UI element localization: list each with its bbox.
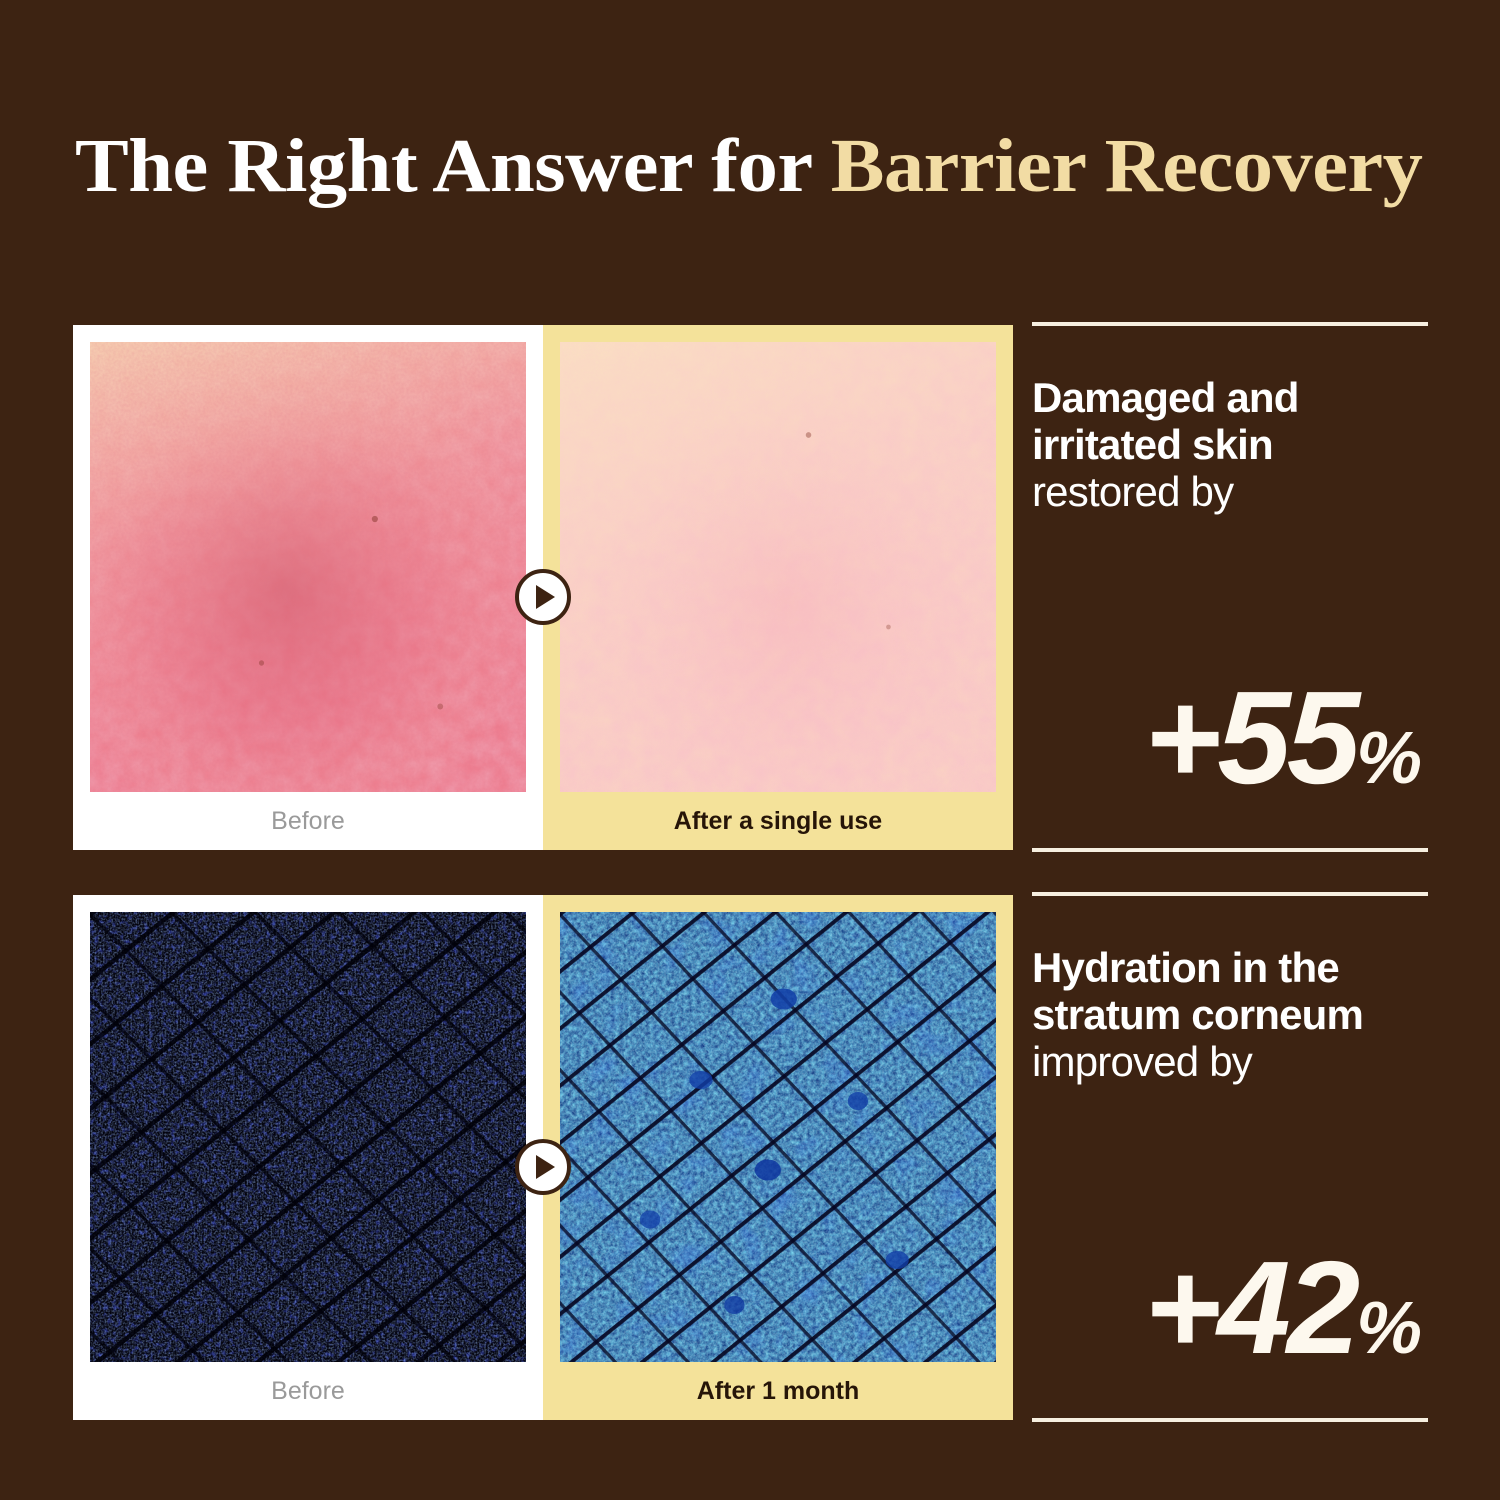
play-triangle-icon [536,585,555,609]
stat-divider-top [1032,892,1428,896]
stat-headline-hydration: Hydration in the stratum corneum improve… [1032,944,1428,1085]
stat-value-number: +42 [1144,1234,1356,1381]
after-pane-redness: After a single use [543,325,1013,850]
play-icon-hydration[interactable] [515,1139,571,1195]
before-pane-redness: Before [73,325,543,850]
stat-headline-bold: Damaged and irritated skin [1032,374,1428,468]
stat-panel-redness: Damaged and irritated skin restored by +… [1032,322,1428,852]
skin-redness-before-image [90,342,526,792]
page-title-gold: Barrier Recovery [831,124,1423,208]
caption-before-redness: Before [90,792,526,850]
stat-panel-hydration: Hydration in the stratum corneum improve… [1032,892,1428,1422]
stat-divider-bottom [1032,1418,1428,1422]
stat-headline-bold: Hydration in the stratum corneum [1032,944,1428,1038]
stat-value-hydration: +42% [1144,1242,1420,1374]
before-pane-hydration: Before [73,895,543,1420]
play-triangle-icon [536,1155,555,1179]
page-title-white: The Right Answer for [75,124,831,208]
after-pane-hydration: After 1 month [543,895,1013,1420]
stat-divider-bottom [1032,848,1428,852]
caption-after-hydration: After 1 month [560,1362,996,1420]
corneometry-after-image [560,912,996,1362]
page-title: The Right Answer for Barrier Recovery [75,128,1500,204]
stat-headline-redness: Damaged and irritated skin restored by [1032,374,1428,515]
comparison-card-hydration: Before [73,895,1013,1420]
play-icon-redness[interactable] [515,569,571,625]
stat-value-unit: % [1356,716,1420,799]
stat-value-unit: % [1356,1286,1420,1369]
caption-before-hydration: Before [90,1362,526,1420]
stat-value-redness: +55% [1144,672,1420,804]
stat-value-number: +55 [1144,664,1356,811]
comparison-card-redness: Before [73,325,1013,850]
skin-redness-after-image [560,342,996,792]
corneometry-before-image [90,912,526,1362]
stat-divider-top [1032,322,1428,326]
stat-headline-light: restored by [1032,468,1428,515]
stat-headline-light: improved by [1032,1038,1428,1085]
caption-after-redness: After a single use [560,792,996,850]
